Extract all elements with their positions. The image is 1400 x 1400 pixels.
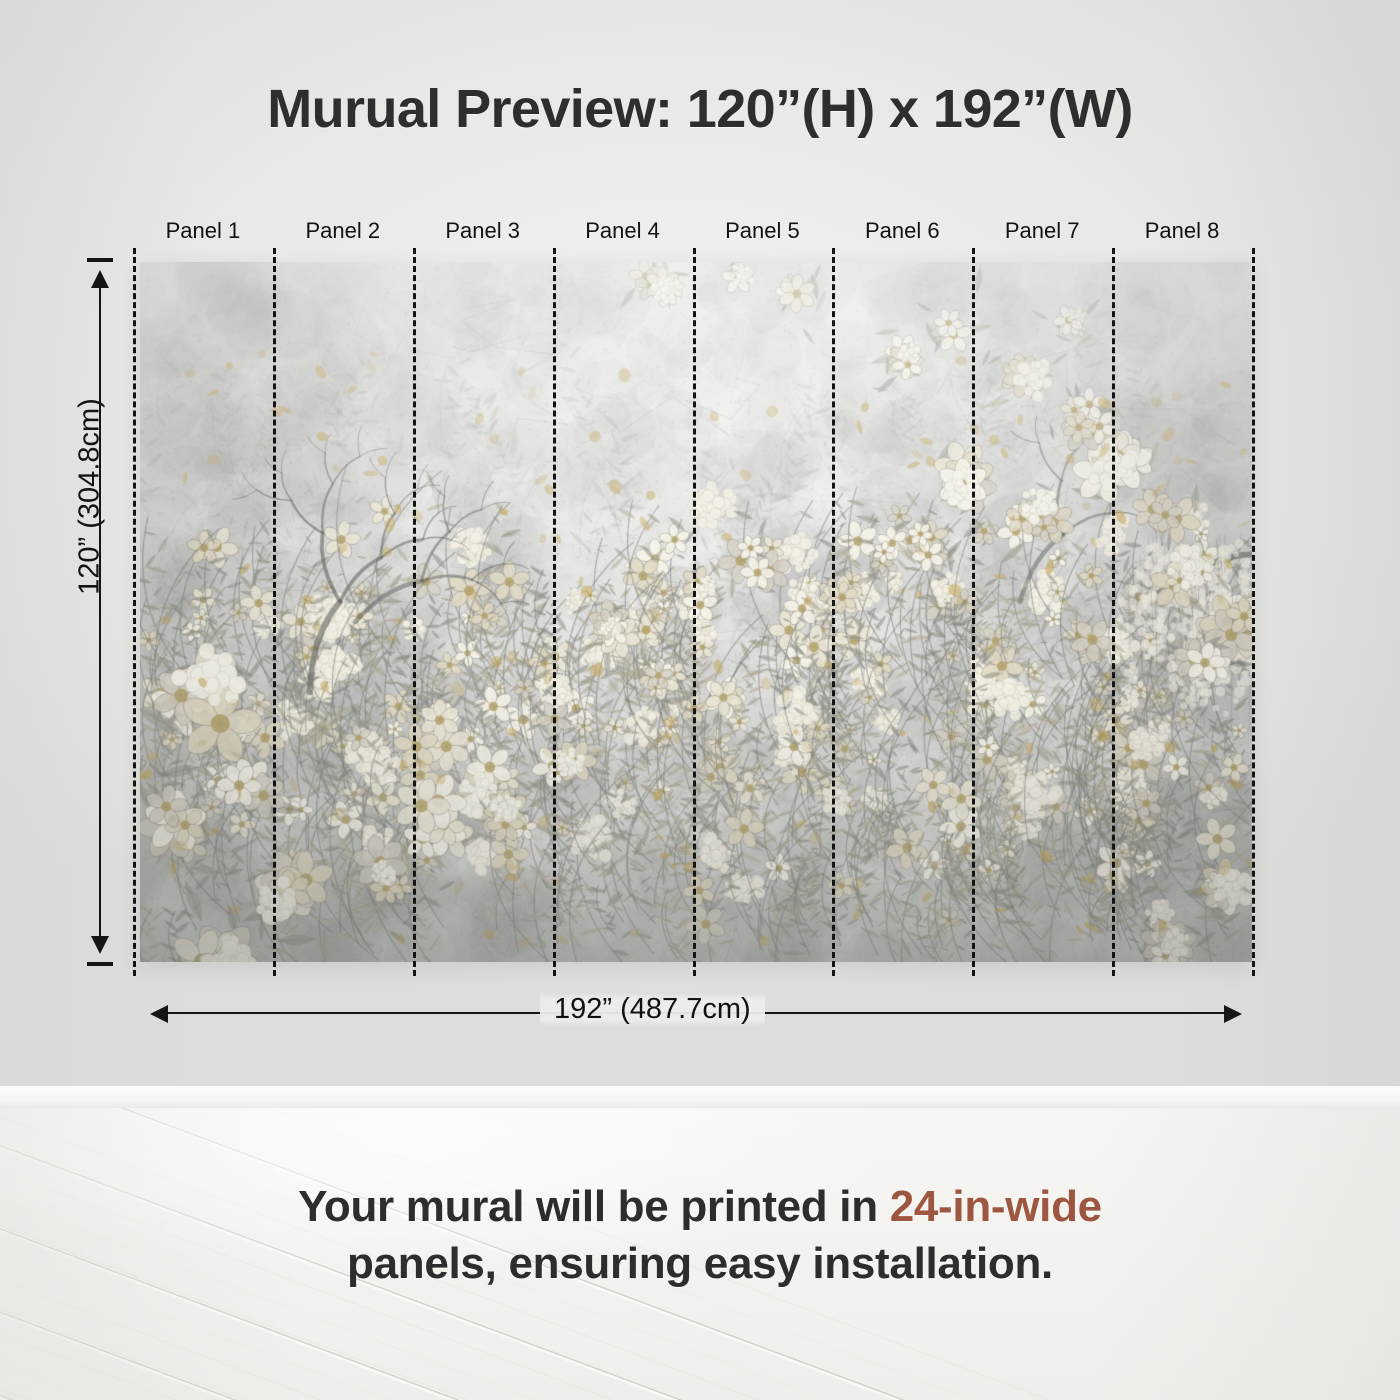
mural-artwork xyxy=(140,262,1252,962)
panel-label-7: Panel 7 xyxy=(972,216,1112,246)
panel-label-4: Panel 4 xyxy=(553,216,693,246)
caption-line1-pre: Your mural will be printed in xyxy=(298,1182,890,1231)
panel-label-1: Panel 1 xyxy=(133,216,273,246)
panel-label-3: Panel 3 xyxy=(413,216,553,246)
height-tick-bottom xyxy=(87,962,113,966)
panel-label-8: Panel 8 xyxy=(1112,216,1252,246)
arrow-down-icon xyxy=(91,936,109,954)
width-dimension-label: 192” (487.7cm) xyxy=(540,993,765,1026)
mural-edge-line xyxy=(133,248,136,976)
panel-divider-line xyxy=(273,248,276,976)
panel-label-2: Panel 2 xyxy=(273,216,413,246)
panel-divider-line xyxy=(553,248,556,976)
mural-preview-page: Murual Preview: 120”(H) x 192”(W) Panel … xyxy=(0,0,1400,1400)
baseboard xyxy=(0,1086,1400,1110)
panel-divider-line xyxy=(1112,248,1115,976)
panel-label-5: Panel 5 xyxy=(693,216,833,246)
panel-divider-line xyxy=(832,248,835,976)
panel-divider-line xyxy=(413,248,416,976)
page-title: Murual Preview: 120”(H) x 192”(W) xyxy=(0,78,1400,140)
mural-canvas xyxy=(140,262,1252,962)
caption-highlight: 24-in-wide xyxy=(890,1182,1102,1231)
arrow-right-icon xyxy=(1224,1005,1242,1023)
height-tick-top xyxy=(87,258,113,262)
caption-line2: panels, ensuring easy installation. xyxy=(0,1235,1400,1292)
mural-image xyxy=(140,262,1252,962)
installation-caption: Your mural will be printed in 24-in-wide… xyxy=(0,1178,1400,1292)
panel-divider-line xyxy=(972,248,975,976)
arrow-left-icon xyxy=(150,1005,168,1023)
mural-edge-line xyxy=(1252,248,1255,976)
height-dimension-label: 120” (304.8cm) xyxy=(74,367,107,627)
panel-label-6: Panel 6 xyxy=(832,216,972,246)
panel-divider-line xyxy=(693,248,696,976)
